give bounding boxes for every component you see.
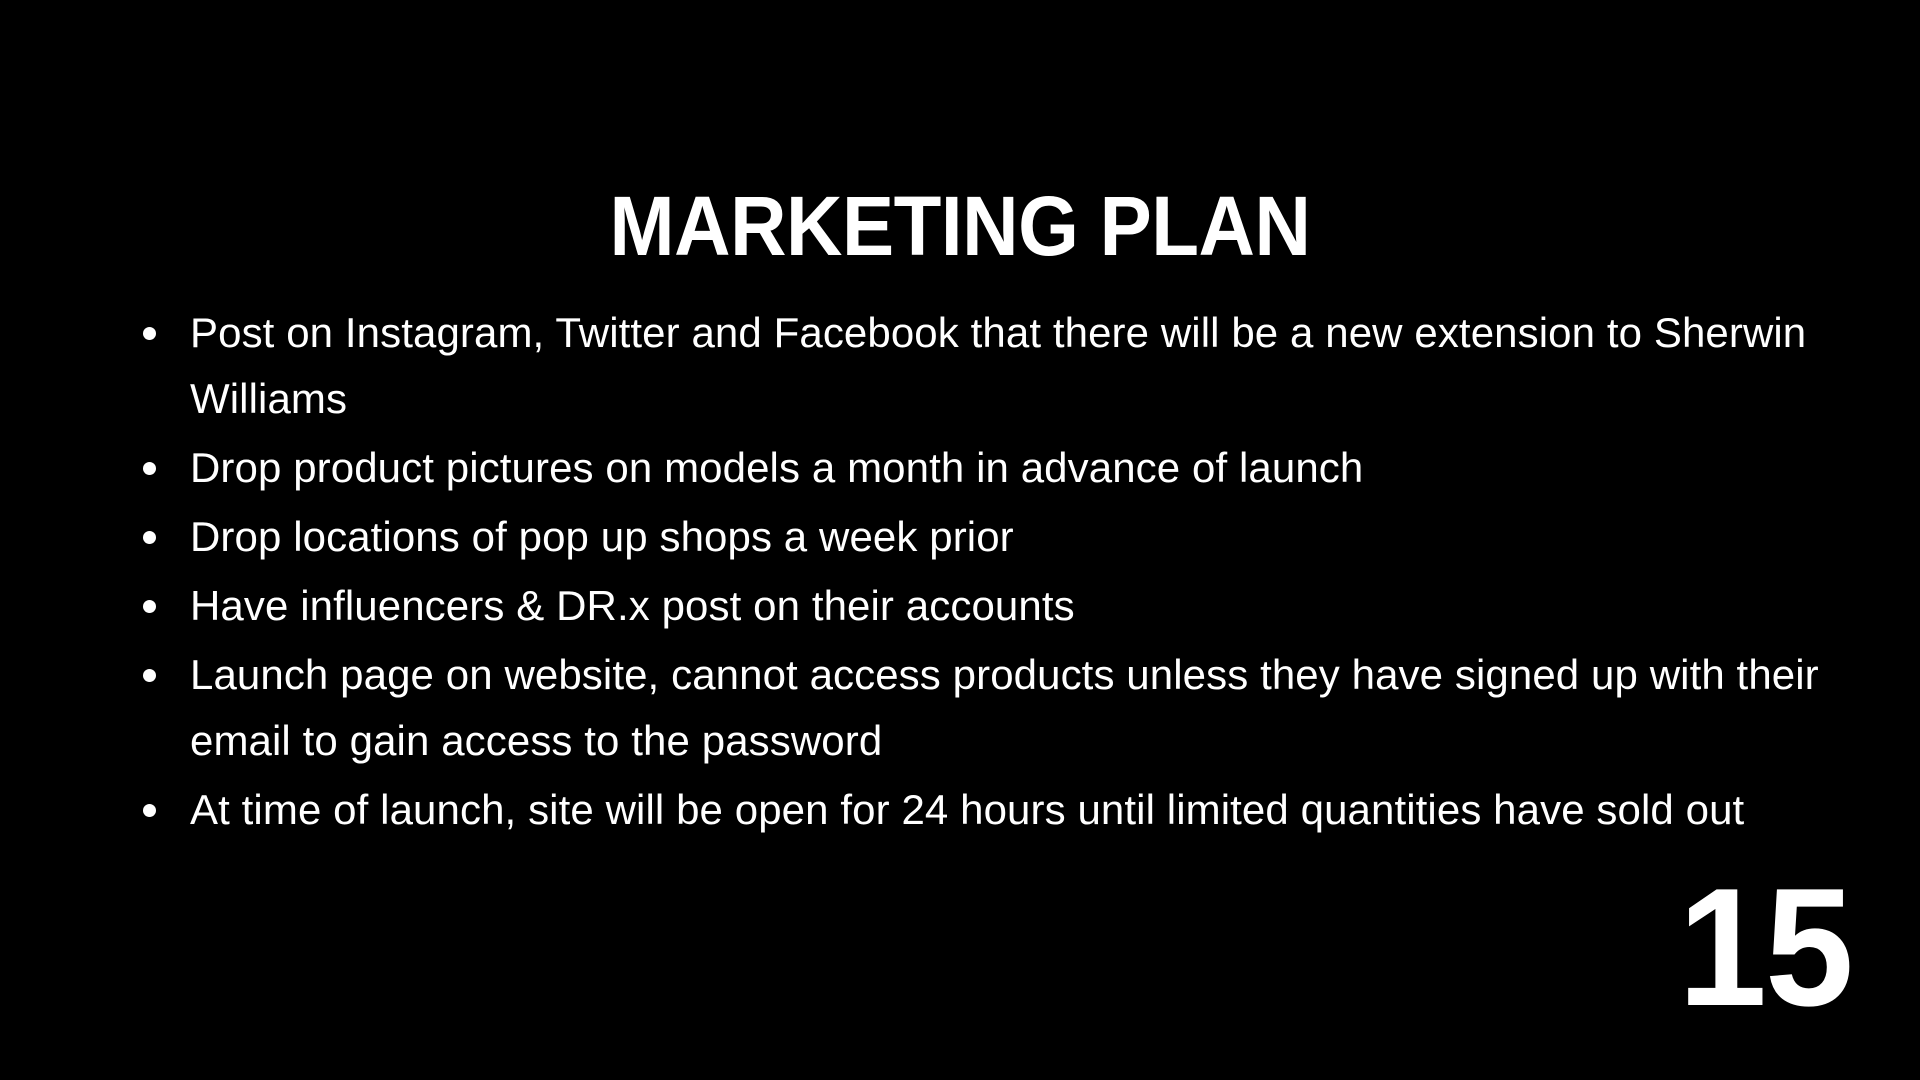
list-item: Drop product pictures on models a month … [135,435,1825,501]
page-number: 15 [1678,872,1852,1022]
bullet-point-icon [143,435,157,501]
bullet-point-icon [143,300,157,366]
list-item: Have influencers & DR.x post on their ac… [135,573,1825,639]
slide-title: MARKETING PLAN [67,184,1853,268]
list-item-text: Drop product pictures on models a month … [190,435,1825,501]
bullet-point-icon [143,504,157,570]
list-item-text: Have influencers & DR.x post on their ac… [190,573,1825,639]
bullet-point-icon [143,573,157,639]
bullet-point-icon [143,642,157,708]
list-item-text: Post on Instagram, Twitter and Facebook … [190,300,1825,432]
list-item-text: Launch page on website, cannot access pr… [190,642,1825,774]
list-item: At time of launch, site will be open for… [135,777,1825,843]
list-item-text: Drop locations of pop up shops a week pr… [190,504,1825,570]
list-item: Launch page on website, cannot access pr… [135,642,1825,774]
list-item: Drop locations of pop up shops a week pr… [135,504,1825,570]
presentation-slide: MARKETING PLAN Post on Instagram, Twitte… [0,0,1920,1080]
bullet-point-icon [143,777,157,843]
bullet-list: Post on Instagram, Twitter and Facebook … [135,300,1825,846]
list-item-text: At time of launch, site will be open for… [190,777,1825,843]
list-item: Post on Instagram, Twitter and Facebook … [135,300,1825,432]
